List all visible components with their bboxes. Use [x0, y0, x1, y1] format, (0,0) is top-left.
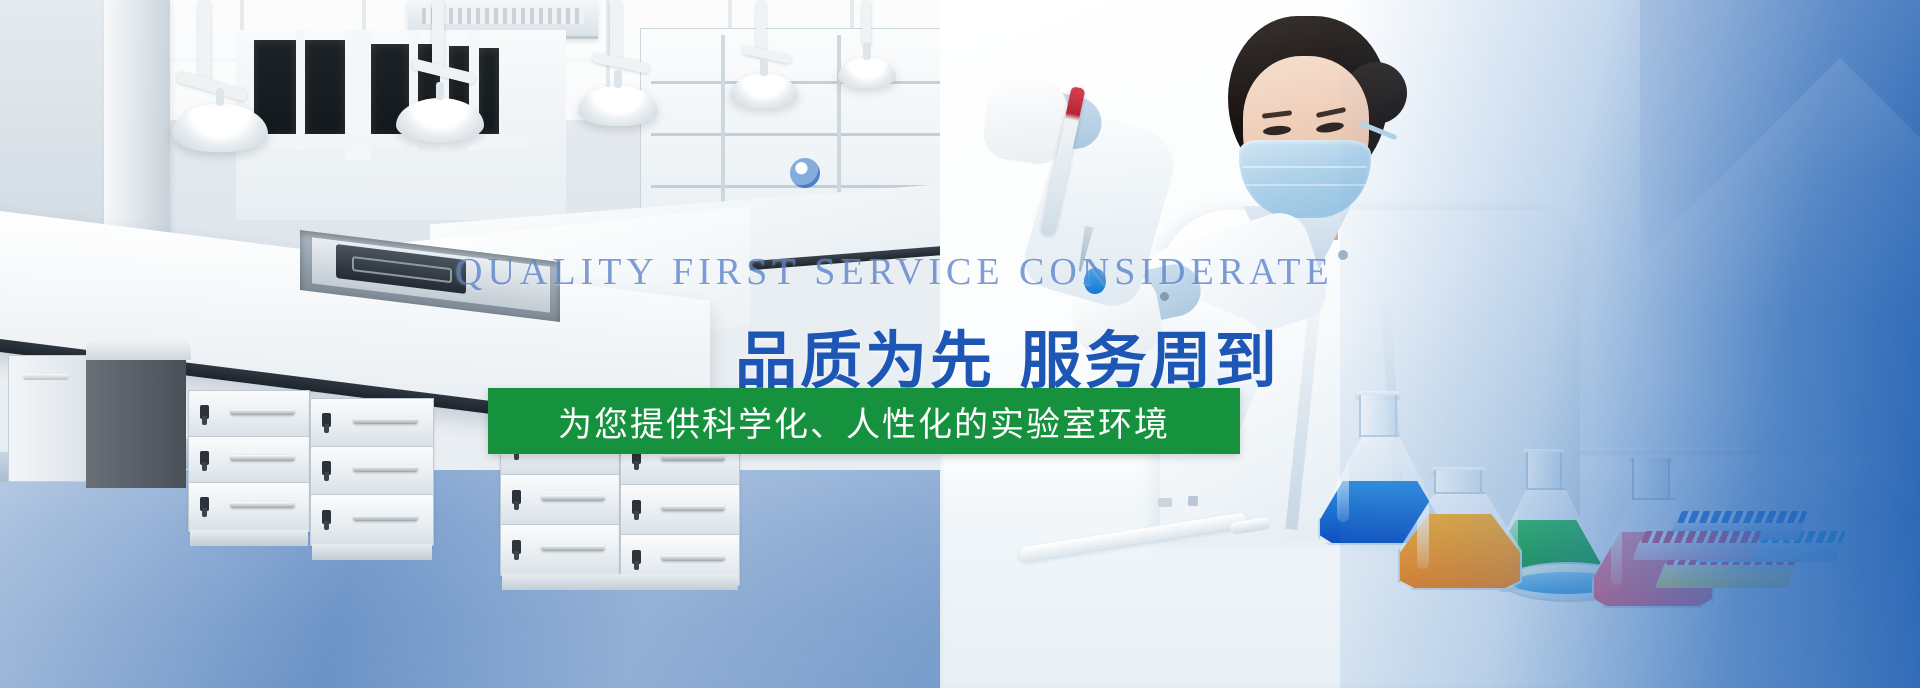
tagline-english: QUALITY FIRST SERVICE CONSIDERATE — [455, 250, 1334, 294]
text-overlay: QUALITY FIRST SERVICE CONSIDERATE 品质为先 服… — [0, 0, 1920, 688]
promo-banner: QUALITY FIRST SERVICE CONSIDERATE 品质为先 服… — [0, 0, 1920, 688]
subtitle-chinese: 为您提供科学化、人性化的实验室环境 — [558, 397, 1170, 446]
subtitle-bar: 为您提供科学化、人性化的实验室环境 — [488, 388, 1240, 454]
headline-chinese: 品质为先 服务周到 — [735, 310, 1280, 400]
